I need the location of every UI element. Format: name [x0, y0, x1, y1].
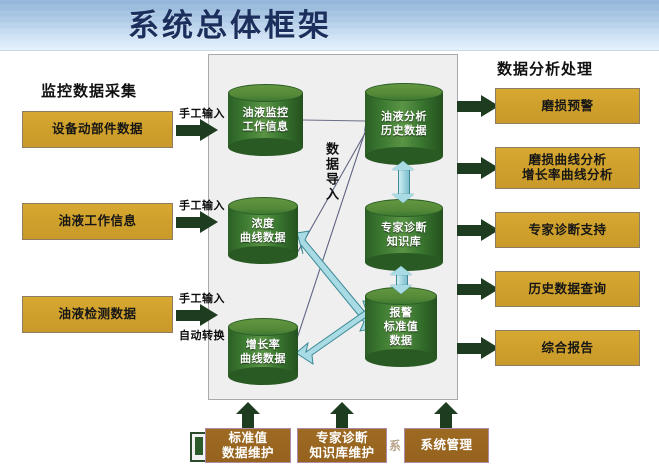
arrow-right-icon [457, 219, 499, 241]
arrow-right-icon [457, 157, 499, 179]
ghost-overlap-text: 系 [389, 437, 401, 454]
arrow-head-up [390, 266, 412, 275]
box-comprehensive-report[interactable]: 综合报告 [495, 330, 640, 366]
cylinder-growth-rate-curve-data[interactable]: 增长率曲线数据 [228, 318, 298, 385]
box-label-line1: 专家诊断 [316, 431, 368, 445]
cylinder-expert-diagnosis-knowledge-base[interactable]: 专家诊断知识库 [365, 199, 443, 271]
box-label-line2: 数据维护 [222, 446, 274, 460]
box-history-data-query[interactable]: 历史数据查询 [495, 271, 640, 307]
box-label: 系统管理 [420, 438, 472, 453]
cylinder-alarm-standard-value-data[interactable]: 报警标准值数据 [365, 287, 437, 367]
cylinder-label: 油液分析历史数据 [365, 83, 443, 165]
box-expert-knowledge-base-maintenance[interactable]: 专家诊断知识库维护 [297, 428, 387, 463]
arrow-right-icon [176, 304, 218, 326]
box-system-management[interactable]: 系统管理 [404, 428, 489, 463]
arrow-head-up [392, 161, 414, 170]
arrow-bar [398, 169, 410, 195]
arrow-right-icon [457, 337, 499, 359]
box-label-line2: 增长率曲线分析 [522, 168, 613, 182]
arrow-up-icon [236, 402, 260, 428]
arrow-head-down [392, 194, 414, 203]
arrow-right-icon [176, 119, 218, 141]
arrow-label-auto-convert: 自动转换 [179, 327, 225, 343]
box-label: 历史数据查询 [528, 282, 606, 297]
cylinder-label: 油液监控工作信息 [228, 84, 303, 156]
box-oil-test-data[interactable]: 油液检测数据 [22, 296, 173, 333]
box-wear-early-warning[interactable]: 磨损预警 [495, 88, 640, 124]
data-import-label: 数据导入 [324, 142, 340, 202]
cylinder-oil-analysis-history-data[interactable]: 油液分析历史数据 [365, 83, 443, 165]
cylinder-label: 报警标准值数据 [365, 287, 437, 367]
arrow-label-manual-input-1: 手工输入 [179, 105, 225, 121]
box-expert-diagnosis-support[interactable]: 专家诊断支持 [495, 212, 640, 248]
arrow-right-icon [457, 278, 499, 300]
cyan-double-arrow-vertical-lower [390, 266, 412, 294]
box-label: 专家诊断支持 [528, 223, 606, 238]
box-label-line2: 知识库维护 [309, 446, 374, 460]
cyan-double-arrow-vertical-upper [392, 161, 414, 203]
cylinder-oil-monitor-work-info[interactable]: 油液监控工作信息 [228, 84, 303, 156]
cylinder-label: 浓度曲线数据 [228, 197, 298, 264]
box-wear-curve-analysis[interactable]: 磨损曲线分析增长率曲线分析 [495, 147, 640, 189]
box-equipment-moving-parts-data[interactable]: 设备动部件数据 [22, 111, 173, 148]
box-label: 综合报告 [541, 341, 593, 356]
box-label: 磨损预警 [541, 99, 593, 114]
arrow-label-manual-input-3: 手工输入 [179, 290, 225, 306]
arrow-up-icon [434, 402, 458, 428]
box-label-line1: 标准值 [228, 431, 267, 445]
arrow-right-icon [176, 211, 218, 233]
arrow-head-down [390, 285, 412, 294]
box-oil-work-info[interactable]: 油液工作信息 [22, 203, 173, 240]
arrow-right-icon [457, 95, 499, 117]
cylinder-label: 增长率曲线数据 [228, 318, 298, 385]
box-label-line1: 磨损曲线分析 [528, 153, 606, 167]
arrow-up-icon [330, 402, 354, 428]
box-standard-value-data-maintenance[interactable]: 标准值数据维护 [205, 428, 291, 463]
cylinder-concentration-curve-data[interactable]: 浓度曲线数据 [228, 197, 298, 264]
cylinder-label: 专家诊断知识库 [365, 199, 443, 271]
arrow-label-manual-input-2: 手工输入 [179, 197, 225, 213]
